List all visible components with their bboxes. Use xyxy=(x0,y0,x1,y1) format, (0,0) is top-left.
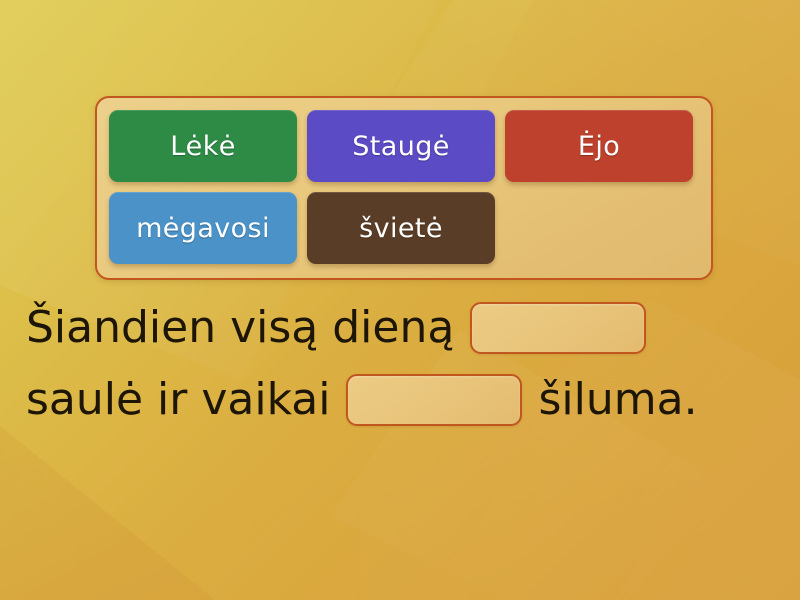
word-tile-label: Ėjo xyxy=(578,131,620,162)
sentence-area: Šiandien visą dieną saulė ir vaikai šilu… xyxy=(26,292,786,436)
blank-drop-slot-2[interactable] xyxy=(346,374,522,426)
blank-drop-slot-1[interactable] xyxy=(470,302,646,354)
sentence-line-1: Šiandien visą dieną xyxy=(26,292,786,364)
word-tile-leke[interactable]: Lėkė xyxy=(109,110,297,182)
word-tile-stauge[interactable]: Staugė xyxy=(307,110,495,182)
word-tile-row-1: Lėkė Staugė Ėjo xyxy=(109,110,699,182)
word-tile-sviete[interactable]: švietė xyxy=(307,192,495,264)
sentence-text-segment: šiluma. xyxy=(538,378,697,422)
word-tile-label: švietė xyxy=(359,213,443,244)
word-tile-megavosi[interactable]: mėgavosi xyxy=(109,192,297,264)
sentence-text-segment: Šiandien visą dieną xyxy=(26,306,454,350)
word-tile-label: Lėkė xyxy=(170,131,236,162)
word-tile-tray: Lėkė Staugė Ėjo mėgavosi švietė xyxy=(95,96,713,280)
sentence-line-2: saulė ir vaikai šiluma. xyxy=(26,364,786,436)
word-tile-label: Staugė xyxy=(352,131,450,162)
word-tile-label: mėgavosi xyxy=(136,213,270,244)
word-tile-ejo[interactable]: Ėjo xyxy=(505,110,693,182)
word-tile-row-2: mėgavosi švietė xyxy=(109,192,699,264)
sentence-text-segment: saulė ir vaikai xyxy=(26,378,330,422)
